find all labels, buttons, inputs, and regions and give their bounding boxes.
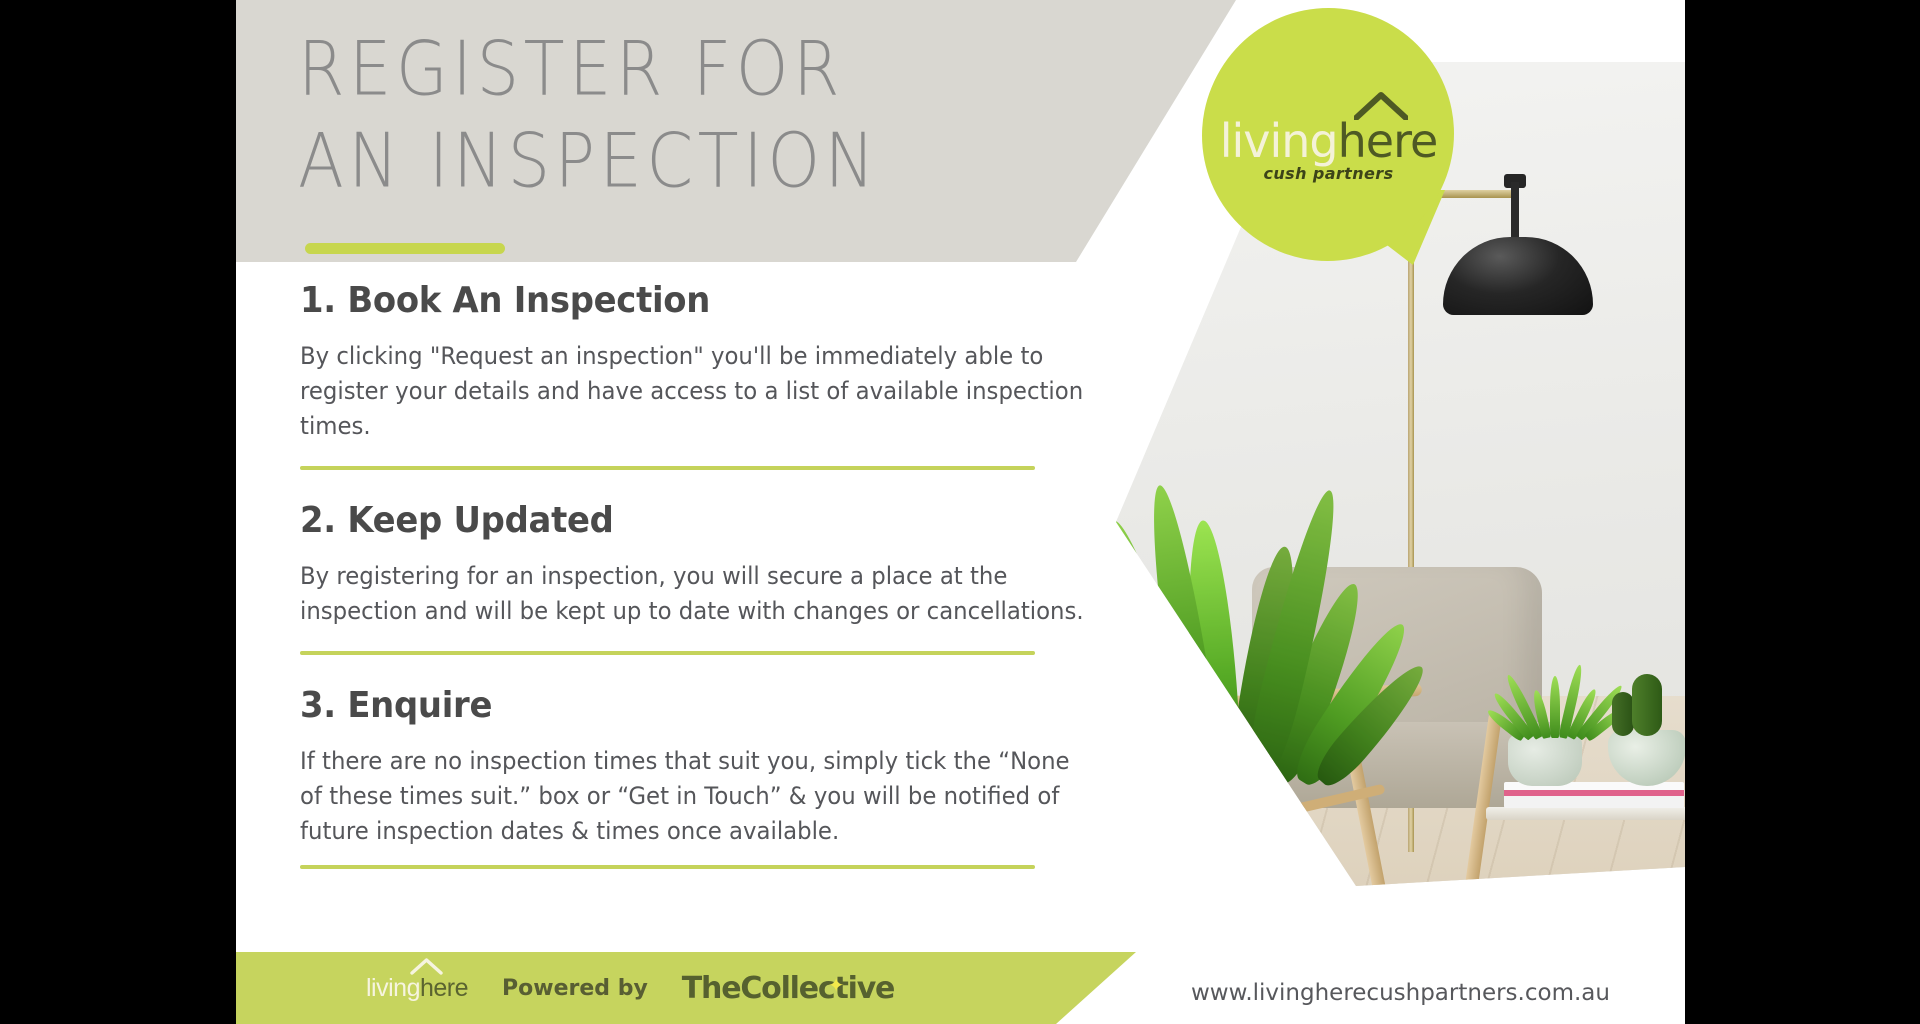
section-heading: 2. Keep Updated xyxy=(300,500,1086,541)
house-roof-chevron-icon xyxy=(410,957,443,975)
footer-word-living: living xyxy=(366,974,420,1002)
cactus-small-icon xyxy=(1612,692,1634,736)
sections-list: 1. Book An Inspection By clicking "Reque… xyxy=(236,262,1136,869)
section-divider xyxy=(300,865,1035,869)
section-body: By clicking "Request an inspection" you'… xyxy=(300,339,1094,444)
section-body: By registering for an inspection, you wi… xyxy=(300,559,1094,629)
side-table xyxy=(1486,807,1685,820)
page-title-line-1: REGISTER FOR xyxy=(298,24,1118,116)
section-enquire: 3. Enquire If there are no inspection ti… xyxy=(236,655,1136,849)
section-heading: 1. Book An Inspection xyxy=(300,280,1086,321)
logo-word-living: living xyxy=(1220,114,1338,168)
website-url[interactable]: www.livingherecushpartners.com.au xyxy=(1191,980,1610,1006)
house-roof-chevron-icon xyxy=(1354,92,1408,120)
footer-word-here: here xyxy=(420,974,468,1002)
page-title: REGISTER FOR AN INSPECTION xyxy=(298,24,1118,207)
powered-by-label: Powered by xyxy=(502,976,648,1001)
letterbox-bar-left xyxy=(0,0,236,1024)
logo-tagline: cush partners xyxy=(1203,164,1454,183)
plant-leaf xyxy=(1180,519,1243,783)
title-accent-bar xyxy=(305,243,505,254)
logo-word-here: here xyxy=(1338,114,1438,168)
section-keep-updated: 2. Keep Updated By registering for an in… xyxy=(236,470,1136,629)
presentation-slide: REGISTER FOR AN INSPECTION xyxy=(236,0,1685,1024)
livinghere-logo[interactable]: livinghere cush partners xyxy=(1203,8,1454,259)
logo-wordmark: livinghere xyxy=(1203,118,1454,164)
thecollective-label: TheCollective xyxy=(682,971,894,1006)
sparkle-star-icon: ✦ xyxy=(828,973,844,997)
slide-stage: REGISTER FOR AN INSPECTION xyxy=(0,0,1920,1024)
section-book-an-inspection: 1. Book An Inspection By clicking "Reque… xyxy=(236,262,1136,444)
plant-pot-small xyxy=(1508,734,1582,786)
page-title-line-2: AN INSPECTION xyxy=(298,116,1118,208)
footer-content: livinghere Powered by TheCollective ✦ xyxy=(236,952,1136,1024)
section-heading: 3. Enquire xyxy=(300,685,1086,726)
section-body: If there are no inspection times that su… xyxy=(300,744,1094,849)
letterbox-bar-right xyxy=(1685,0,1920,1024)
footer-livinghere-logo[interactable]: livinghere xyxy=(366,974,468,1003)
cactus-icon xyxy=(1632,674,1662,736)
thecollective-logo[interactable]: TheCollective ✦ xyxy=(682,971,894,1006)
